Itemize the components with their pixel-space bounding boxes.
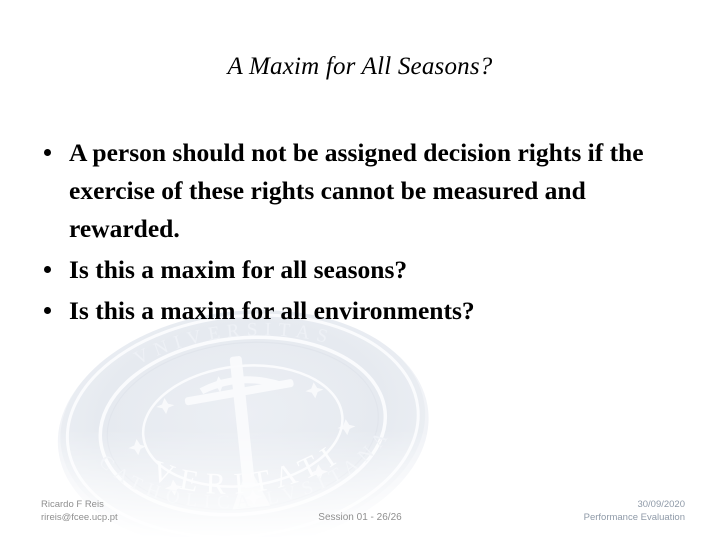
- footer-date: 30/09/2020: [584, 498, 685, 511]
- seal-motto-text: VERITATI: [144, 434, 352, 510]
- list-item-text: Is this a maxim for all seasons?: [69, 255, 407, 284]
- bullet-dot-icon: [44, 149, 51, 156]
- list-item: A person should not be assigned decision…: [32, 134, 672, 248]
- bullet-dot-icon: [44, 266, 51, 273]
- page-title: A Maxim for All Seasons?: [60, 52, 660, 82]
- bullet-list: A person should not be assigned decision…: [32, 134, 672, 330]
- footer-meta-block: 30/09/2020 Performance Evaluation: [584, 498, 685, 524]
- footer-course-name: Performance Evaluation: [584, 511, 685, 524]
- footer-author-name: Ricardo F Reis: [41, 498, 118, 511]
- list-item-text: Is this a maxim for all environments?: [69, 296, 475, 325]
- list-item: Is this a maxim for all seasons?: [32, 251, 672, 289]
- list-item: Is this a maxim for all environments?: [32, 292, 672, 330]
- list-item-text: A person should not be assigned decision…: [69, 138, 644, 243]
- bullet-dot-icon: [44, 307, 51, 314]
- slide-canvas: VERITATI VNIVERSITAS CATHOLICA LVSITANA …: [0, 0, 720, 540]
